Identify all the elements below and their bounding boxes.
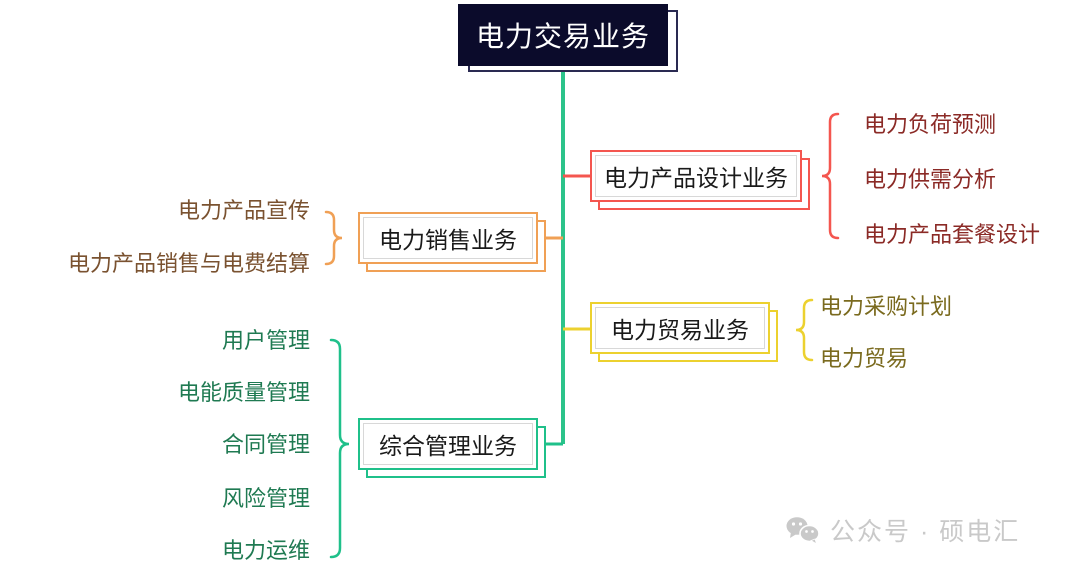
leaf-integrated-0: 用户管理 [222, 330, 310, 352]
leaf-integrated-1: 电能质量管理 [178, 382, 310, 404]
root-label: 电力交易业务 [476, 15, 650, 55]
leaf-sales-0: 电力产品宣传 [178, 200, 310, 222]
brace-sales [326, 212, 342, 264]
node-product-design[interactable]: 电力产品设计业务 [590, 150, 802, 202]
leaf-product-design-0: 电力负荷预测 [864, 114, 996, 136]
connector-lines [0, 0, 1080, 576]
leaf-product-design-2: 电力产品套餐设计 [864, 224, 1040, 246]
leaf-trade-1: 电力贸易 [820, 348, 908, 370]
watermark: 公众号 · 硕电汇 [786, 512, 1020, 548]
mindmap-canvas: 电力交易业务 电力产品设计业务 电力负荷预测 电力供需分析 电力产品套餐设计 电… [0, 0, 1080, 576]
leaf-integrated-3: 风险管理 [222, 488, 310, 510]
leaf-sales-1: 电力产品销售与电费结算 [68, 253, 310, 275]
node-sales[interactable]: 电力销售业务 [358, 212, 538, 264]
leaf-product-design-1: 电力供需分析 [864, 169, 996, 191]
leaf-integrated-2: 合同管理 [222, 434, 310, 456]
brace-product-design [822, 114, 838, 238]
node-label-trade: 电力贸易业务 [611, 311, 749, 345]
leaf-trade-0: 电力采购计划 [820, 296, 952, 318]
node-trade[interactable]: 电力贸易业务 [590, 302, 770, 354]
brace-trade [796, 300, 812, 360]
watermark-text: 公众号 · 硕电汇 [830, 512, 1020, 548]
node-label-sales: 电力销售业务 [379, 221, 517, 255]
leaf-integrated-4: 电力运维 [222, 540, 310, 562]
node-integrated[interactable]: 综合管理业务 [358, 418, 538, 470]
brace-integrated [331, 340, 349, 557]
node-label-integrated: 综合管理业务 [379, 427, 517, 461]
node-label-product-design: 电力产品设计业务 [604, 159, 788, 193]
wechat-icon [786, 516, 820, 544]
root-node[interactable]: 电力交易业务 [458, 4, 668, 66]
